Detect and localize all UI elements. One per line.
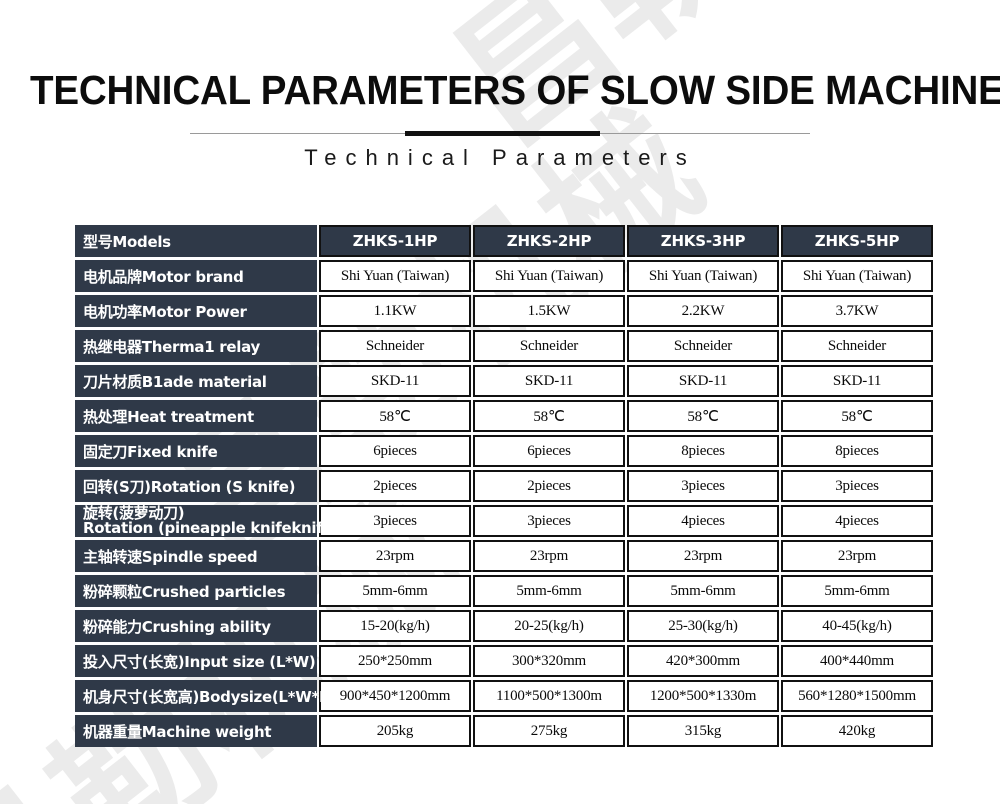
table-cell: 1.5KW <box>473 295 625 327</box>
table-cell: 900*450*1200mm <box>319 680 471 712</box>
table-row-label: 电机品牌Motor brand <box>75 260 317 292</box>
table-cell: 3pieces <box>781 470 933 502</box>
table-cell: 5mm-6mm <box>627 575 779 607</box>
table-cell: 40-45(kg/h) <box>781 610 933 642</box>
table-model-header: ZHKS-1HP <box>319 225 471 257</box>
specifications-table: 型号ModelsZHKS-1HPZHKS-2HPZHKS-3HPZHKS-5HP… <box>73 222 935 750</box>
table-cell: 400*440mm <box>781 645 933 677</box>
table-cell: Shi Yuan (Taiwan) <box>473 260 625 292</box>
table-row-label-line: Rotation (pineapple knifeknife) <box>83 521 309 536</box>
table-cell: 23rpm <box>319 540 471 572</box>
table-cell: Shi Yuan (Taiwan) <box>627 260 779 292</box>
page-root: TECHNICAL PARAMETERS OF SLOW SIDE MACHIN… <box>0 0 1000 804</box>
table-row-label: 机器重量Machine weight <box>75 715 317 747</box>
table-row-label: 粉碎能力Crushing ability <box>75 610 317 642</box>
table-cell: 3pieces <box>627 470 779 502</box>
table-cell: 2pieces <box>473 470 625 502</box>
table-cell: 5mm-6mm <box>319 575 471 607</box>
table-row: 粉碎颗粒Crushed particles5mm-6mm5mm-6mm5mm-6… <box>75 575 933 607</box>
table-row: 电机品牌Motor brandShi Yuan (Taiwan)Shi Yuan… <box>75 260 933 292</box>
table-model-header: ZHKS-2HP <box>473 225 625 257</box>
table-row: 电机功率Motor Power1.1KW1.5KW2.2KW3.7KW <box>75 295 933 327</box>
table-cell: 250*250mm <box>319 645 471 677</box>
table-row: 回转(S刀)Rotation (S knife)2pieces2pieces3p… <box>75 470 933 502</box>
table-row-label: 投入尺寸(长宽)Input size (L*W) <box>75 645 317 677</box>
table-row-label: 热继电器Therma1 relay <box>75 330 317 362</box>
table-row: 机器重量Machine weight205kg275kg315kg420kg <box>75 715 933 747</box>
table-cell: 58℃ <box>627 400 779 432</box>
table-cell: 275kg <box>473 715 625 747</box>
table-row-label: 旋转(菠萝动刀)Rotation (pineapple knifeknife) <box>75 505 317 537</box>
table-cell: 315kg <box>627 715 779 747</box>
table-cell: SKD-11 <box>473 365 625 397</box>
table-row: 粉碎能力Crushing ability15-20(kg/h)20-25(kg/… <box>75 610 933 642</box>
table-model-header: ZHKS-3HP <box>627 225 779 257</box>
table-cell: 8pieces <box>627 435 779 467</box>
table-row: 热处理Heat treatment58℃58℃58℃58℃ <box>75 400 933 432</box>
table-cell: 25-30(kg/h) <box>627 610 779 642</box>
page-subtitle: Technical Parameters <box>0 144 1000 172</box>
table-cell: 1.1KW <box>319 295 471 327</box>
table-row-label: 热处理Heat treatment <box>75 400 317 432</box>
page-title: TECHNICAL PARAMETERS OF SLOW SIDE MACHIN… <box>30 66 970 114</box>
table-cell: Schneider <box>319 330 471 362</box>
table-cell: 23rpm <box>627 540 779 572</box>
table-cell: SKD-11 <box>781 365 933 397</box>
table-row: 固定刀Fixed knife6pieces6pieces8pieces8piec… <box>75 435 933 467</box>
table-row-label: 固定刀Fixed knife <box>75 435 317 467</box>
table-row-label: 电机功率Motor Power <box>75 295 317 327</box>
table-row: 热继电器Therma1 relaySchneiderSchneiderSchne… <box>75 330 933 362</box>
table-cell: 6pieces <box>473 435 625 467</box>
table-row-label: 粉碎颗粒Crushed particles <box>75 575 317 607</box>
table-model-header: ZHKS-5HP <box>781 225 933 257</box>
table-cell: Schneider <box>473 330 625 362</box>
table-row-label: 回转(S刀)Rotation (S knife) <box>75 470 317 502</box>
table-row: 投入尺寸(长宽)Input size (L*W)250*250mm300*320… <box>75 645 933 677</box>
table-row-label: 主轴转速Spindle speed <box>75 540 317 572</box>
table-cell: 3pieces <box>473 505 625 537</box>
table-cell: Schneider <box>781 330 933 362</box>
table-row-label: 机身尺寸(长宽高)Bodysize(L*W*H) <box>75 680 317 712</box>
table-header-row: 型号ModelsZHKS-1HPZHKS-2HPZHKS-3HPZHKS-5HP <box>75 225 933 257</box>
table-cell: 1100*500*1300m <box>473 680 625 712</box>
table-cell: 23rpm <box>781 540 933 572</box>
spec-table-container: 型号ModelsZHKS-1HPZHKS-2HPZHKS-3HPZHKS-5HP… <box>73 222 923 750</box>
divider-accent-bar <box>405 131 600 136</box>
table-cell: 23rpm <box>473 540 625 572</box>
table-cell: 5mm-6mm <box>473 575 625 607</box>
table-cell: Shi Yuan (Taiwan) <box>319 260 471 292</box>
table-cell: 2.2KW <box>627 295 779 327</box>
table-cell: 58℃ <box>781 400 933 432</box>
table-cell: 205kg <box>319 715 471 747</box>
table-cell: 8pieces <box>781 435 933 467</box>
table-cell: 2pieces <box>319 470 471 502</box>
table-cell: 4pieces <box>781 505 933 537</box>
table-cell: 15-20(kg/h) <box>319 610 471 642</box>
table-row-label: 刀片材质B1ade material <box>75 365 317 397</box>
table-cell: 420kg <box>781 715 933 747</box>
table-cell: 4pieces <box>627 505 779 537</box>
title-divider <box>190 131 810 137</box>
table-cell: 6pieces <box>319 435 471 467</box>
table-cell: 5mm-6mm <box>781 575 933 607</box>
table-cell: 20-25(kg/h) <box>473 610 625 642</box>
table-row: 机身尺寸(长宽高)Bodysize(L*W*H)900*450*1200mm11… <box>75 680 933 712</box>
table-row: 旋转(菠萝动刀)Rotation (pineapple knifeknife)3… <box>75 505 933 537</box>
table-cell: 58℃ <box>319 400 471 432</box>
table-cell: SKD-11 <box>627 365 779 397</box>
table-cell: 58℃ <box>473 400 625 432</box>
table-cell: 420*300mm <box>627 645 779 677</box>
table-cell: SKD-11 <box>319 365 471 397</box>
table-row: 刀片材质B1ade materialSKD-11SKD-11SKD-11SKD-… <box>75 365 933 397</box>
table-row: 主轴转速Spindle speed23rpm23rpm23rpm23rpm <box>75 540 933 572</box>
table-cell: 3pieces <box>319 505 471 537</box>
table-cell: 300*320mm <box>473 645 625 677</box>
table-cell: Shi Yuan (Taiwan) <box>781 260 933 292</box>
table-cell: 3.7KW <box>781 295 933 327</box>
table-cell: Schneider <box>627 330 779 362</box>
table-cell: 560*1280*1500mm <box>781 680 933 712</box>
table-cell: 1200*500*1330m <box>627 680 779 712</box>
table-row-label: 型号Models <box>75 225 317 257</box>
